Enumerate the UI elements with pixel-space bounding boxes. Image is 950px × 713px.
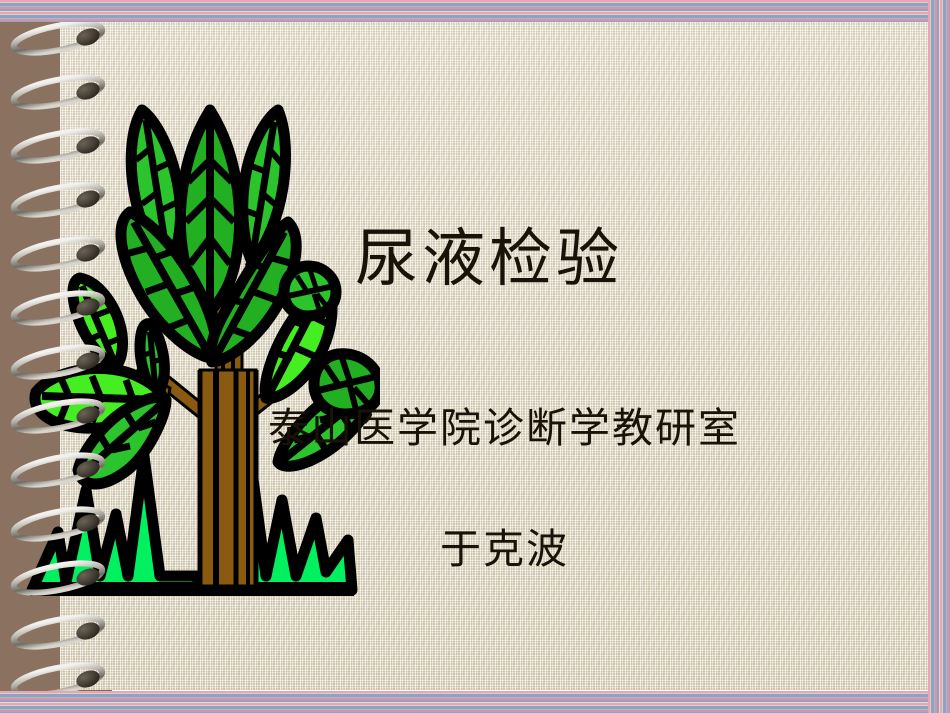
page-subtitle: 泰山医学院诊断学教研室 [268, 408, 741, 449]
border-stripe-right [928, 0, 950, 713]
border-stripe-bottom [0, 691, 950, 713]
page-author: 于克波 [440, 529, 569, 570]
presentation-slide: 尿液检验 泰山医学院诊断学教研室 于克波 [0, 0, 950, 713]
border-stripe-top [0, 0, 950, 22]
page-title: 尿液检验 [355, 228, 623, 291]
notebook-page [60, 10, 928, 690]
